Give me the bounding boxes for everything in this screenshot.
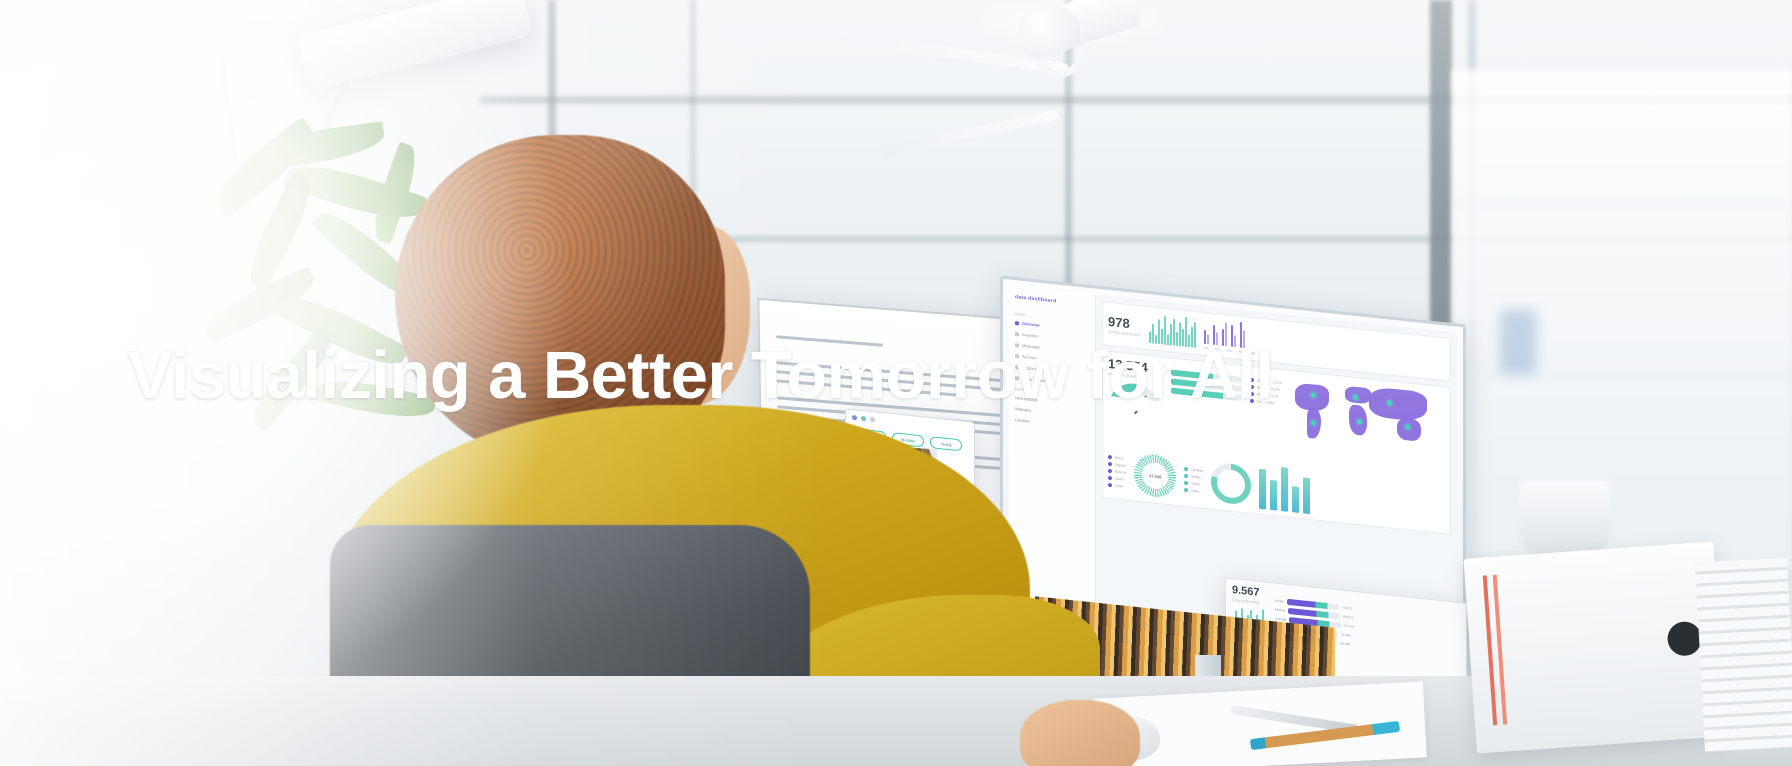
- vertical-bar-chart: [1259, 465, 1310, 514]
- sidebar-item-creative[interactable]: Creative: [1015, 417, 1089, 430]
- row-label: United: [1275, 599, 1284, 604]
- kpi-conversions-value: 9.567: [1232, 585, 1267, 600]
- kpi-sessions-label: TOTAL SESSIONS: [1108, 329, 1141, 336]
- row-label: Mexico: [1275, 608, 1285, 613]
- hero-headline: Visualizing a Better Tomorrow for All: [128, 342, 1688, 410]
- legend-label: Desktop: [1191, 467, 1203, 472]
- donut-chart: 80%: [1211, 462, 1251, 506]
- legend-label: Tablet: [1191, 481, 1200, 486]
- legend-label: Other: [1191, 488, 1199, 493]
- overview-icon: [1015, 321, 1019, 325]
- dashboard-brand: data dashboard: [1015, 294, 1089, 308]
- legend-devices: Desktop Mobile Tablet Other: [1184, 466, 1203, 493]
- window-dots: [852, 415, 875, 422]
- analytics-icon: [1015, 332, 1019, 336]
- legend-label: Referral: [1115, 470, 1126, 475]
- binder-ring-hole: [1666, 621, 1702, 657]
- kpi-sessions-value: 978: [1108, 314, 1141, 330]
- row-value: 74.871: [1342, 606, 1352, 611]
- person-hand: [1020, 700, 1140, 766]
- legend-label: Direct: [1115, 456, 1123, 461]
- radial-tick-chart: 07.246: [1134, 453, 1176, 499]
- desk-binder: [1464, 542, 1727, 754]
- desk-paper-stack: [1695, 558, 1792, 753]
- hero-banner: Weekly Monthly Yearly data dashboard MAI…: [0, 0, 1792, 766]
- desk-lamp-right-bulb: [1018, 5, 1080, 55]
- legend-sources: Direct Organic Referral Social Email: [1108, 455, 1126, 489]
- desk-cup: [1520, 480, 1610, 558]
- donut-value: 80%: [1224, 480, 1238, 488]
- row-value: 52.770: [1344, 624, 1354, 629]
- legend-label: Organic: [1115, 463, 1126, 468]
- legend-label: Mobile: [1191, 474, 1200, 479]
- sidebar-label: Creative: [1015, 417, 1030, 424]
- legend-label: Social: [1115, 477, 1124, 482]
- legend-label: Email: [1115, 484, 1123, 489]
- sidebar-label: Overview: [1022, 321, 1040, 328]
- row-value: 29.348: [1340, 641, 1350, 646]
- kpi-sessions: 978 TOTAL SESSIONS: [1108, 314, 1141, 336]
- row-value: 63.673: [1343, 615, 1353, 620]
- row-value: 37.662: [1341, 632, 1351, 637]
